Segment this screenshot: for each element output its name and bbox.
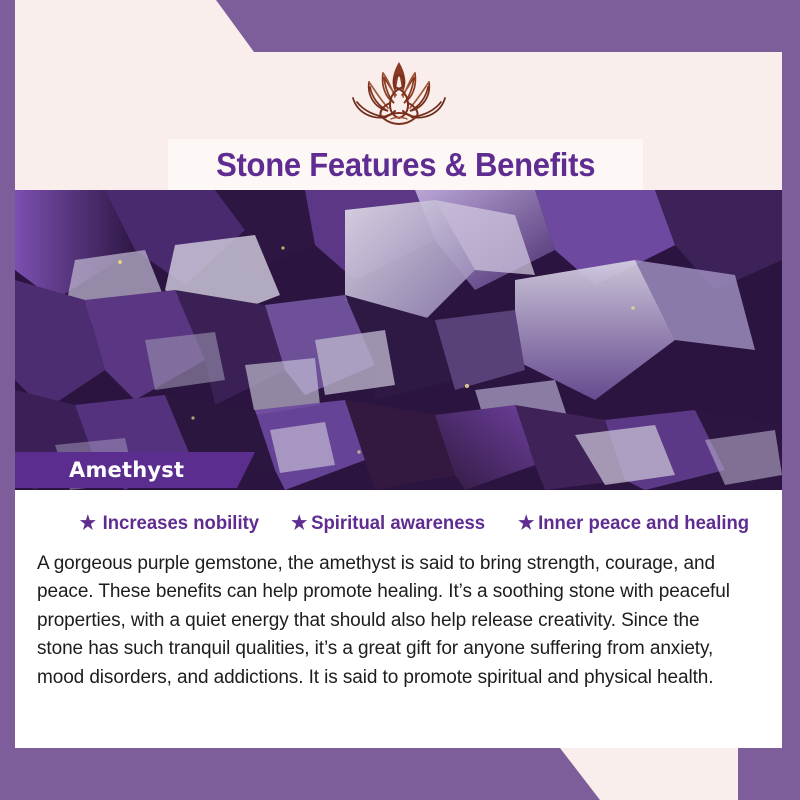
amethyst-crystal-cluster-photo	[15, 190, 782, 490]
stone-description: A gorgeous purple gemstone, the amethyst…	[37, 549, 734, 691]
infographic-page: BUDDHA STONES Stone Features & Benefits	[0, 0, 800, 800]
benefits-list: ★ Increases nobility ★ Spiritual awarene…	[75, 512, 756, 535]
star-icon: ★	[291, 514, 307, 533]
stone-name-label: Amethyst	[15, 452, 255, 488]
star-icon: ★	[80, 514, 96, 533]
benefit-item-increases-nobility: ★ Increases nobility	[80, 512, 259, 535]
benefit-item-inner-peace-and-healing: ★ Inner peace and healing	[518, 512, 749, 535]
benefit-item-spiritual-awareness: ★ Spiritual awareness	[291, 512, 485, 535]
benefit-label: Inner peace and healing	[538, 512, 749, 535]
page-title: Stone Features & Benefits	[216, 146, 595, 184]
benefit-label: Increases nobility	[103, 512, 259, 535]
star-icon: ★	[518, 514, 534, 533]
benefit-label: Spiritual awareness	[311, 512, 485, 535]
stone-content-block: ★ Increases nobility ★ Spiritual awarene…	[15, 490, 782, 748]
stone-name-text: Amethyst	[69, 458, 184, 482]
frame-top-accent	[0, 0, 800, 52]
frame-bottom-accent	[0, 748, 800, 800]
frame-left-accent	[0, 0, 15, 800]
lotus-meditation-figure-icon	[343, 56, 455, 136]
title-band: Stone Features & Benefits	[168, 139, 643, 191]
